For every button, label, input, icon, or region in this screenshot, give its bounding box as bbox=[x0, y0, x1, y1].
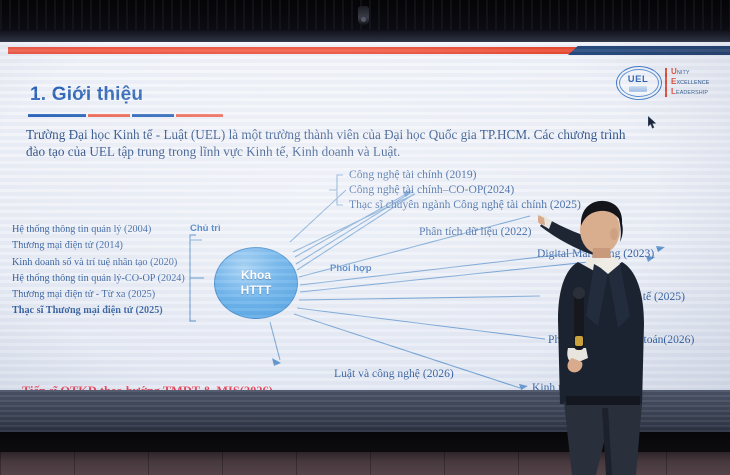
right-program-4: Phân tích dữ liệu (2022) bbox=[419, 225, 532, 238]
right-program-9: Luật và công nghệ (2026) bbox=[334, 367, 454, 380]
hub-label-line2: HTTT bbox=[241, 283, 272, 298]
label-phoi-hop: Phối hợp bbox=[330, 263, 372, 274]
spotlight-fixture bbox=[358, 6, 369, 25]
conference-stage-photo: 1. Giới thiệu Trường Đại học Kinh tế - L… bbox=[0, 0, 730, 475]
hub-label-line1: Khoa bbox=[241, 268, 271, 283]
right-program-1: Công nghệ tài chính (2019) bbox=[349, 168, 477, 181]
list-item: Thạc sĩ Thương mại điện tử (2025) bbox=[12, 303, 190, 318]
list-item: Thương mại điện tử - Từ xa (2025) bbox=[12, 287, 190, 302]
list-item: Kinh doanh số và trí tuệ nhân tạo (2020) bbox=[12, 255, 190, 270]
list-item: Hệ thống thông tin quản lý-CO-OP (2024) bbox=[12, 271, 190, 286]
mouse-pointer-icon bbox=[648, 116, 657, 129]
left-program-list: Hệ thống thông tin quản lý (2004) Thương… bbox=[12, 222, 190, 320]
diagram-hub-node: Khoa HTTT bbox=[214, 247, 298, 319]
presenter-figure bbox=[538, 196, 666, 475]
list-item: Hệ thống thông tin quản lý (2004) bbox=[12, 222, 190, 237]
label-chu-tri: Chủ trì bbox=[190, 223, 221, 234]
list-item: Thương mại điện tử (2014) bbox=[12, 238, 190, 253]
right-program-2: Công nghệ tài chính–CO-OP(2024) bbox=[349, 183, 514, 196]
